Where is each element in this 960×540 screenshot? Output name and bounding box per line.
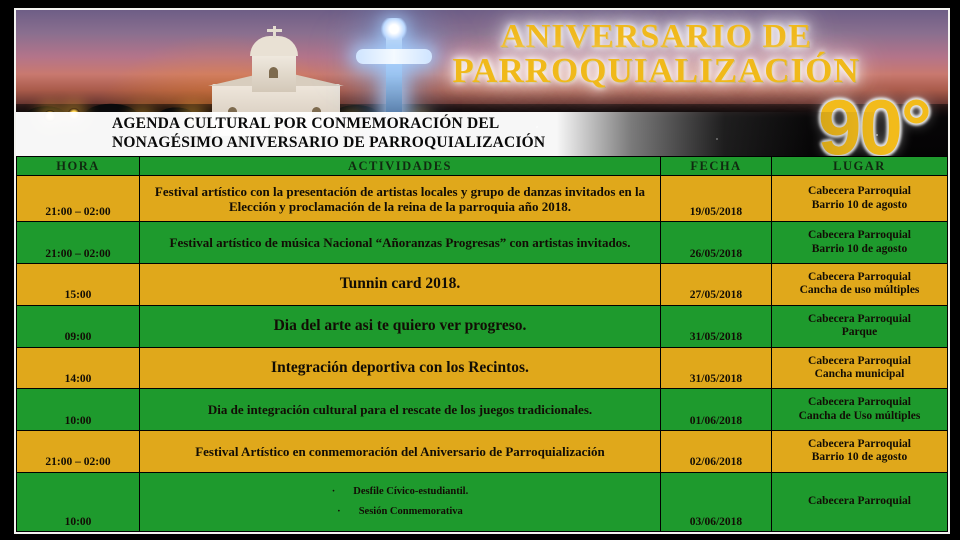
cell-hora: 09:00 xyxy=(17,306,139,347)
lugar-line-1: Cabecera Parroquial xyxy=(776,185,943,198)
lugar-line-2: Barrio 10 de agosto xyxy=(776,243,943,256)
lugar-line-1: Cabecera Parroquial xyxy=(776,495,943,508)
activity-bullet-list: Desfile Cívico-estudiantil.Sesión Conmem… xyxy=(144,482,656,522)
cell-lugar: Cabecera ParroquialCancha de Uso múltipl… xyxy=(772,389,947,430)
title-line-1: ANIVERSARIO DE xyxy=(386,20,926,55)
cell-hora: 10:00 xyxy=(17,473,139,531)
table-row: 14:00Integración deportiva con los Recin… xyxy=(17,348,947,389)
poster-frame: ANIVERSARIO DE PARROQUIALIZACIÓN 90° AGE… xyxy=(14,8,950,534)
cell-hora: 10:00 xyxy=(17,389,139,430)
cell-actividad: Festival Artístico en conmemoración del … xyxy=(140,431,660,472)
cell-lugar: Cabecera ParroquialCancha municipal xyxy=(772,348,947,389)
lugar-line-1: Cabecera Parroquial xyxy=(776,355,943,368)
church-cross-icon xyxy=(273,26,276,38)
column-header-lugar: LUGAR xyxy=(772,157,947,175)
cell-actividad: Festival artístico con la presentación d… xyxy=(140,176,660,221)
subtitle-band: AGENDA CULTURAL POR CONMEMORACIÓN DEL NO… xyxy=(16,112,948,156)
poster-root: ANIVERSARIO DE PARROQUIALIZACIÓN 90° AGE… xyxy=(0,0,960,540)
column-header-fecha: FECHA xyxy=(661,157,771,175)
cell-actividad: Festival artístico de música Nacional “A… xyxy=(140,222,660,263)
header-row: HORA ACTIVIDADES FECHA LUGAR xyxy=(17,157,947,175)
lugar-line-2: Parque xyxy=(776,326,943,339)
lugar-line-2: Cancha municipal xyxy=(776,368,943,381)
cell-fecha: 03/06/2018 xyxy=(661,473,771,531)
lugar-line-1: Cabecera Parroquial xyxy=(776,438,943,451)
activity-bullet-item: Desfile Cívico-estudiantil. xyxy=(144,482,656,502)
lugar-line-1: Cabecera Parroquial xyxy=(776,271,943,284)
lugar-line-2: Barrio 10 de agosto xyxy=(776,451,943,464)
subtitle-line-1: AGENDA CULTURAL POR CONMEMORACIÓN DEL xyxy=(112,115,545,134)
cell-hora: 14:00 xyxy=(17,348,139,389)
banner-photo: ANIVERSARIO DE PARROQUIALIZACIÓN 90° AGE… xyxy=(16,10,948,156)
cell-hora: 15:00 xyxy=(17,264,139,305)
cell-actividad: Desfile Cívico-estudiantil.Sesión Conmem… xyxy=(140,473,660,531)
cell-actividad: Tunnin card 2018. xyxy=(140,264,660,305)
cell-lugar: Cabecera ParroquialBarrio 10 de agosto xyxy=(772,222,947,263)
subtitle-line-2: NONAGÉSIMO ANIVERSARIO DE PARROQUIALIZAC… xyxy=(112,134,545,153)
cell-actividad: Integración deportiva con los Recintos. xyxy=(140,348,660,389)
table-row: 10:00Dia de integración cultural para el… xyxy=(17,389,947,430)
cell-actividad: Dia del arte asi te quiero ver progreso. xyxy=(140,306,660,347)
cell-fecha: 31/05/2018 xyxy=(661,348,771,389)
cell-fecha: 01/06/2018 xyxy=(661,389,771,430)
table-row: 21:00 – 02:00Festival artístico con la p… xyxy=(17,176,947,221)
cell-lugar: Cabecera ParroquialBarrio 10 de agosto xyxy=(772,431,947,472)
cell-hora: 21:00 – 02:00 xyxy=(17,176,139,221)
column-header-actividades: ACTIVIDADES xyxy=(140,157,660,175)
table-row: 15:00Tunnin card 2018.27/05/2018Cabecera… xyxy=(17,264,947,305)
lugar-line-1: Cabecera Parroquial xyxy=(776,229,943,242)
church-dome xyxy=(250,36,298,56)
activity-bullet-item: Sesión Conmemorativa xyxy=(144,502,656,522)
table-header: HORA ACTIVIDADES FECHA LUGAR xyxy=(17,157,947,175)
church-window xyxy=(269,67,278,78)
lugar-line-1: Cabecera Parroquial xyxy=(776,313,943,326)
agenda-table: HORA ACTIVIDADES FECHA LUGAR 21:00 – 02:… xyxy=(16,156,948,532)
agenda-subtitle: AGENDA CULTURAL POR CONMEMORACIÓN DEL NO… xyxy=(16,115,545,153)
lugar-line-2: Cancha de uso múltiples xyxy=(776,284,943,297)
cell-fecha: 19/05/2018 xyxy=(661,176,771,221)
table-body: 21:00 – 02:00Festival artístico con la p… xyxy=(17,176,947,531)
poster-main-title: ANIVERSARIO DE PARROQUIALIZACIÓN xyxy=(386,20,926,88)
cell-lugar: Cabecera ParroquialCancha de uso múltipl… xyxy=(772,264,947,305)
lugar-line-2: Cancha de Uso múltiples xyxy=(776,410,943,423)
cell-actividad: Dia de integración cultural para el resc… xyxy=(140,389,660,430)
cell-fecha: 31/05/2018 xyxy=(661,306,771,347)
cell-lugar: Cabecera Parroquial xyxy=(772,473,947,531)
agenda-table-container: HORA ACTIVIDADES FECHA LUGAR 21:00 – 02:… xyxy=(16,156,948,532)
cell-hora: 21:00 – 02:00 xyxy=(17,431,139,472)
cell-lugar: Cabecera ParroquialParque xyxy=(772,306,947,347)
table-row: 09:00Dia del arte asi te quiero ver prog… xyxy=(17,306,947,347)
cell-hora: 21:00 – 02:00 xyxy=(17,222,139,263)
cell-fecha: 27/05/2018 xyxy=(661,264,771,305)
lugar-line-1: Cabecera Parroquial xyxy=(776,396,943,409)
table-row: 21:00 – 02:00Festival artístico de músic… xyxy=(17,222,947,263)
church-cross-icon xyxy=(267,29,282,32)
cell-fecha: 26/05/2018 xyxy=(661,222,771,263)
column-header-hora: HORA xyxy=(17,157,139,175)
cell-fecha: 02/06/2018 xyxy=(661,431,771,472)
table-row: 21:00 – 02:00Festival Artístico en conme… xyxy=(17,431,947,472)
cell-lugar: Cabecera ParroquialBarrio 10 de agosto xyxy=(772,176,947,221)
lugar-line-2: Barrio 10 de agosto xyxy=(776,199,943,212)
table-row: 10:00Desfile Cívico-estudiantil.Sesión C… xyxy=(17,473,947,531)
